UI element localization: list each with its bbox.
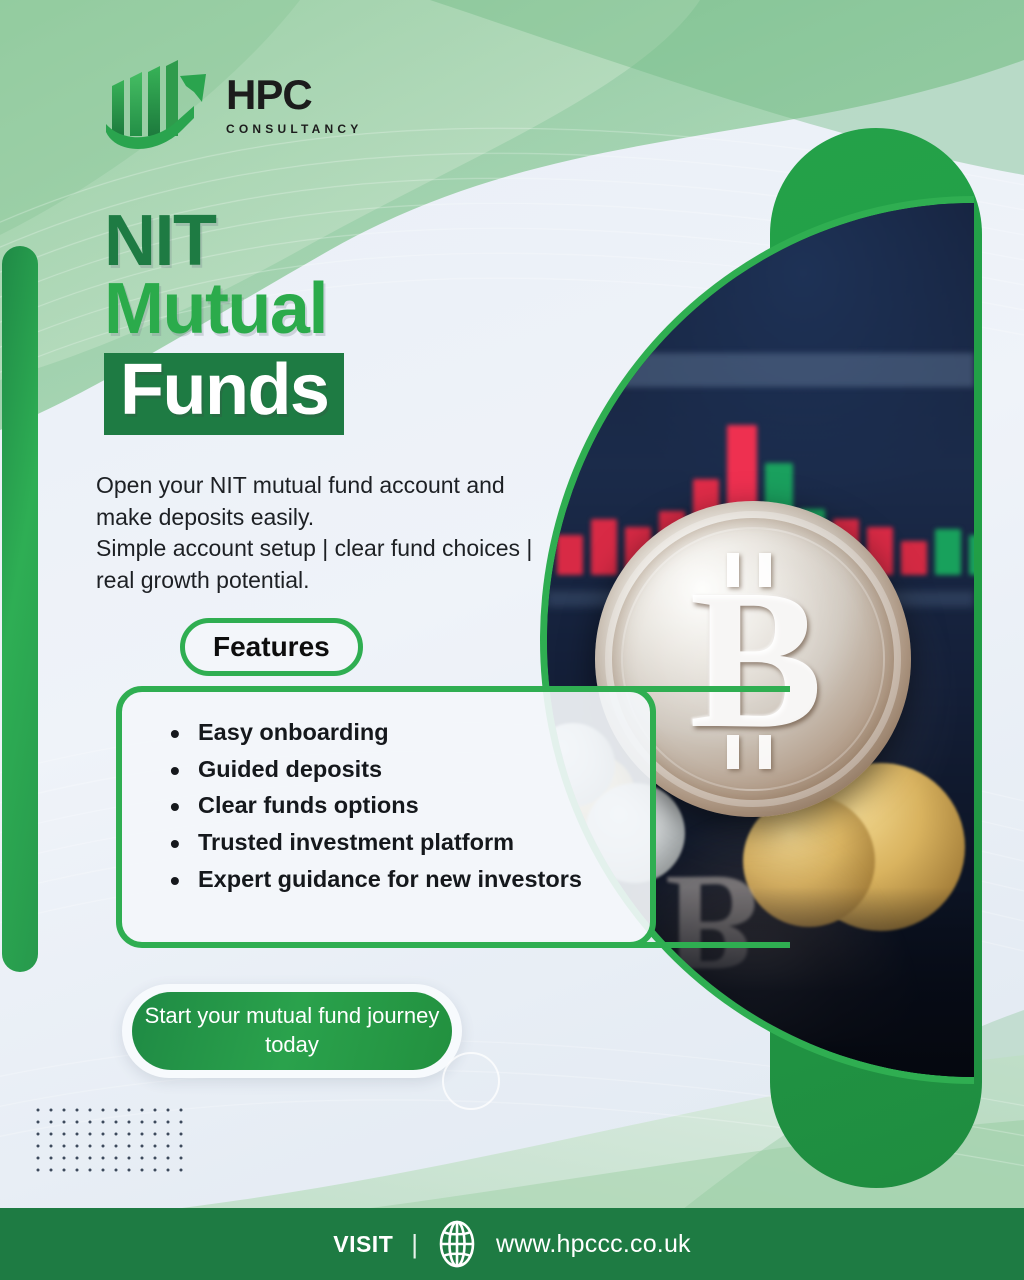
features-card: Easy onboarding Guided deposits Clear fu… bbox=[116, 686, 656, 948]
bar-chart-arrow-icon bbox=[98, 58, 218, 158]
decorative-circle bbox=[442, 1052, 500, 1110]
list-item: Expert guidance for new investors bbox=[164, 861, 634, 898]
body-paragraph-2: Simple account setup | clear fund choice… bbox=[96, 533, 546, 596]
brand-logo[interactable]: HPC CONSULTANCY bbox=[98, 58, 418, 164]
headline-line-3: Funds bbox=[120, 350, 328, 430]
hero-image-panel: B B bbox=[540, 196, 974, 1084]
list-item: Trusted investment platform bbox=[164, 824, 634, 861]
list-item: Easy onboarding bbox=[164, 714, 634, 751]
dot-grid-decoration bbox=[34, 1106, 194, 1178]
footer-url[interactable]: www.hpccc.co.uk bbox=[496, 1230, 691, 1259]
list-item: Guided deposits bbox=[164, 751, 634, 788]
features-badge: Features bbox=[180, 618, 363, 676]
globe-icon bbox=[436, 1219, 478, 1269]
headline-highlight-block: Funds bbox=[104, 353, 344, 435]
logo-tagline: CONSULTANCY bbox=[226, 122, 362, 136]
footer-bar: VISIT | www.hpccc.co.uk bbox=[0, 1208, 1024, 1280]
features-list: Easy onboarding Guided deposits Clear fu… bbox=[164, 714, 634, 897]
body-paragraph-1: Open your NIT mutual fund account and ma… bbox=[96, 470, 546, 533]
headline-line-1: NIT bbox=[104, 208, 344, 276]
footer-visit-label: VISIT bbox=[333, 1231, 393, 1258]
cta-button[interactable]: Start your mutual fund journey today bbox=[132, 992, 452, 1070]
footer-separator: | bbox=[411, 1229, 418, 1260]
body-copy: Open your NIT mutual fund account and ma… bbox=[96, 470, 546, 597]
ticker-band bbox=[547, 353, 974, 387]
headline-line-2: Mutual bbox=[104, 276, 344, 344]
left-accent-bar bbox=[2, 246, 38, 972]
logo-wordmark: HPC CONSULTANCY bbox=[226, 74, 362, 136]
list-item: Clear funds options bbox=[164, 787, 634, 824]
logo-name: HPC bbox=[226, 74, 362, 116]
poster-canvas: B B HPC C bbox=[0, 0, 1024, 1280]
page-title: NIT Mutual Funds bbox=[104, 208, 344, 435]
